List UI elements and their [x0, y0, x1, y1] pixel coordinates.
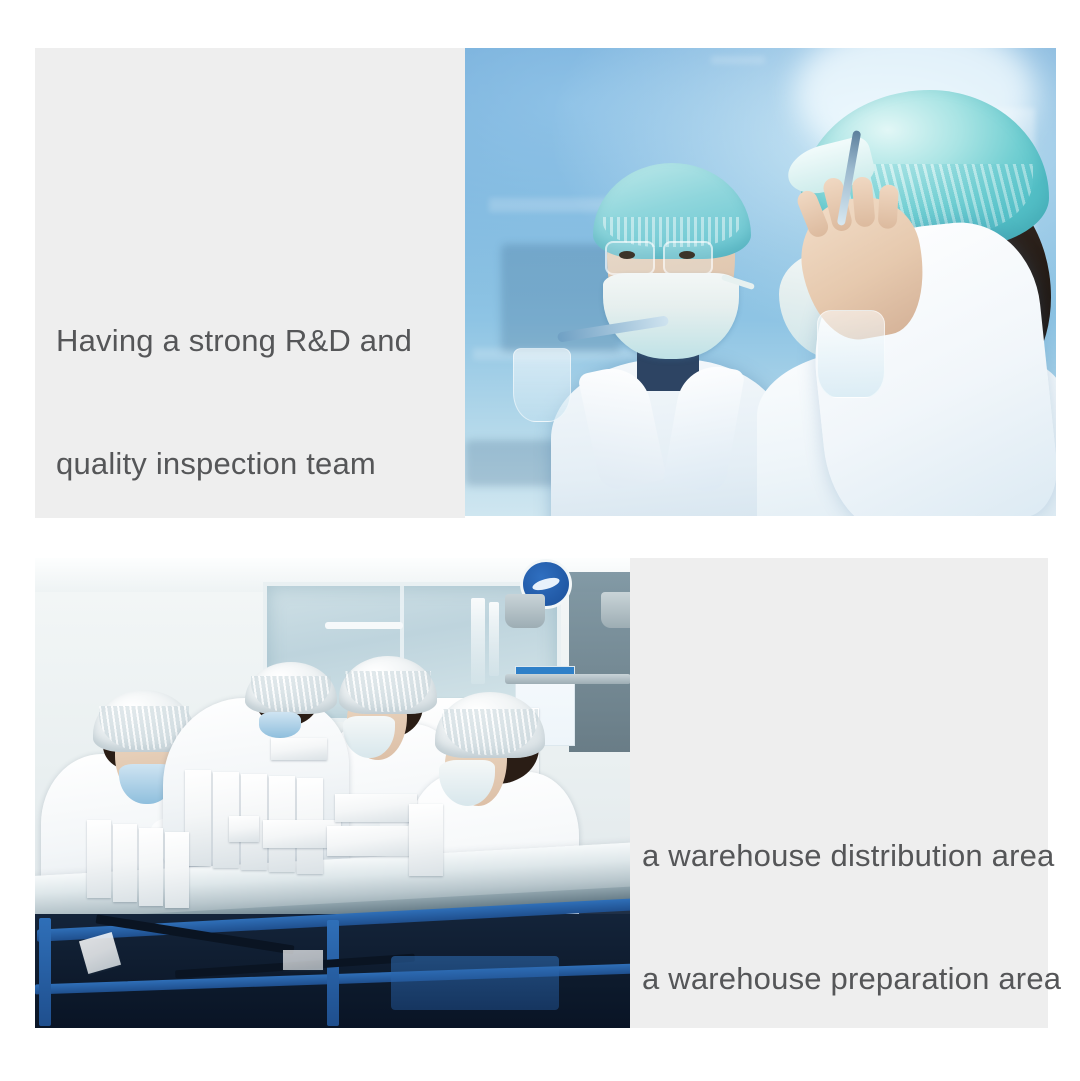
table-leg-center: [327, 920, 339, 1026]
wall-rail: [505, 674, 630, 684]
bottom-caption-line-1: a warehouse distribution area: [642, 835, 1042, 876]
carton-front-3: [139, 828, 163, 906]
carton-flat-4: [335, 794, 417, 822]
bottom-caption-line-2: a warehouse preparation area: [642, 958, 1042, 999]
top-caption-panel: Having a strong R&D and quality inspecti…: [35, 48, 465, 518]
finger-4: [878, 184, 899, 229]
white-hairnet: [245, 662, 337, 714]
bottom-caption: a warehouse distribution area a warehous…: [642, 753, 1042, 1081]
under-table-crate: [391, 956, 559, 1010]
bottom-caption-panel: a warehouse distribution area a warehous…: [630, 558, 1048, 1028]
eye-right: [679, 251, 695, 259]
surgical-mask: [259, 712, 301, 738]
top-caption-line-1: Having a strong R&D and: [56, 320, 456, 361]
page-canvas: Having a strong R&D and quality inspecti…: [0, 0, 1080, 1080]
carton-held: [409, 804, 443, 876]
surgical-mask: [603, 273, 739, 359]
stainless-pot-1: [505, 594, 545, 628]
top-caption: Having a strong R&D and quality inspecti…: [56, 238, 456, 566]
carton-front-2: [113, 824, 137, 902]
white-hairnet: [435, 692, 545, 758]
carton-front-1: [87, 820, 111, 898]
glass-flask: [817, 310, 885, 398]
carton-front-4: [165, 832, 189, 908]
under-table-item-2: [283, 950, 323, 970]
lab-ceiling-light: [711, 56, 765, 64]
top-caption-line-2: quality inspection team: [56, 443, 456, 484]
warehouse-packing-area-photo: [35, 558, 630, 1028]
table-leg-left: [39, 918, 51, 1026]
hanging-drape-1: [471, 598, 485, 684]
hanging-drape-2: [489, 602, 499, 676]
carton-stack-top: [271, 738, 327, 760]
carton-flat-3: [327, 826, 411, 856]
rd-quality-inspection-lab-photo: [465, 48, 1056, 516]
carton-flat-1: [229, 816, 259, 842]
stainless-pot-2: [601, 592, 630, 628]
eye-left: [619, 251, 635, 259]
ceiling-lamp-reflection: [325, 622, 403, 629]
glass-beaker: [513, 348, 571, 422]
